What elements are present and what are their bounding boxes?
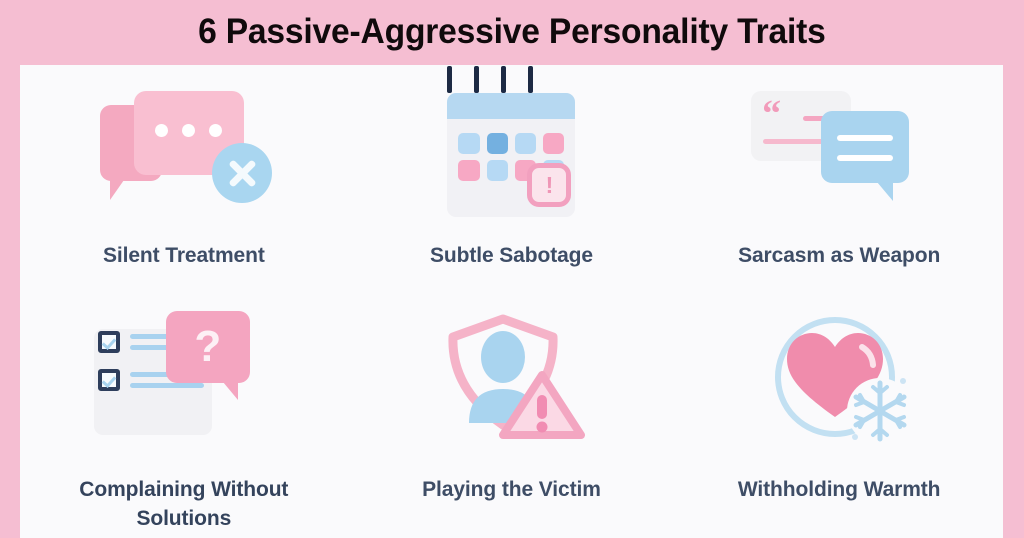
trait-card-complaining-without-solutions: ? Complaining Without Solutions — [20, 287, 348, 538]
trait-label-silent-treatment: Silent Treatment — [59, 241, 309, 270]
trait-label-sarcasm-as-weapon: Sarcasm as Weapon — [714, 241, 964, 270]
dot-1 — [155, 124, 168, 137]
date-cell — [458, 133, 479, 154]
page-title: 6 Passive-Aggressive Personality Traits — [198, 12, 826, 54]
ring-3 — [501, 66, 506, 93]
trait-label-withholding-warmth: Withholding Warmth — [714, 475, 964, 504]
ellipsis-dots-icon — [134, 124, 244, 137]
title-bar: 6 Passive-Aggressive Personality Traits — [0, 0, 1024, 65]
pink-question-bubble-icon: ? — [166, 311, 250, 383]
dot-3 — [209, 124, 222, 137]
dot-2 — [182, 124, 195, 137]
bubble-line-2 — [837, 155, 893, 161]
trait-card-silent-treatment: Silent Treatment — [20, 65, 348, 287]
text-line — [130, 383, 204, 388]
binding-rings-icon — [447, 66, 575, 93]
calendar-warning-icon: ! — [411, 79, 611, 229]
trait-card-sarcasm-as-weapon: “ Sarcasm as Weapon — [675, 65, 1003, 287]
checklist-question-icon: ? — [84, 307, 284, 457]
infographic-poster: 6 Passive-Aggressive Personality Traits — [0, 0, 1024, 538]
blue-chat-bubble-icon — [821, 111, 909, 183]
date-cell — [487, 160, 508, 181]
calendar-header-band — [447, 93, 575, 119]
snow-speck-2 — [900, 378, 906, 384]
heart-snowflake-svg — [767, 311, 917, 453]
warning-badge-icon: ! — [527, 163, 571, 207]
trait-label-playing-the-victim: Playing the Victim — [386, 475, 636, 504]
speech-bubbles-blocked-icon — [84, 79, 284, 229]
bubble-line-1 — [837, 135, 893, 141]
quotation-marks-icon: “ — [762, 100, 781, 128]
checkbox-checked-icon — [98, 331, 120, 353]
date-cell — [515, 133, 536, 154]
trait-card-subtle-sabotage: ! Subtle Sabotage — [348, 65, 676, 287]
ring-4 — [528, 66, 533, 93]
traits-grid: Silent Treatment — [20, 65, 1003, 538]
shield-person-warning-icon — [411, 307, 611, 457]
heart-snowflake-icon — [739, 307, 939, 457]
date-cell — [487, 133, 508, 154]
checkbox-checked-icon — [98, 369, 120, 391]
date-cell — [458, 160, 479, 181]
blue-circle-x-icon — [212, 143, 272, 203]
shield-person-warning-svg — [441, 311, 591, 453]
snow-speck-1 — [852, 434, 858, 440]
question-mark-symbol: ? — [194, 325, 221, 369]
trait-label-subtle-sabotage: Subtle Sabotage — [386, 241, 636, 270]
ring-2 — [474, 66, 479, 93]
content-panel: Silent Treatment — [20, 65, 1003, 538]
warning-badge-symbol: ! — [546, 174, 554, 197]
quote-and-chat-bubble-icon: “ — [739, 79, 939, 229]
ring-1 — [447, 66, 452, 93]
trait-card-playing-the-victim: Playing the Victim — [348, 287, 676, 538]
trait-label-complaining-without-solutions: Complaining Without Solutions — [59, 475, 309, 533]
date-cell — [543, 133, 564, 154]
trait-card-withholding-warmth: Withholding Warmth — [675, 287, 1003, 538]
